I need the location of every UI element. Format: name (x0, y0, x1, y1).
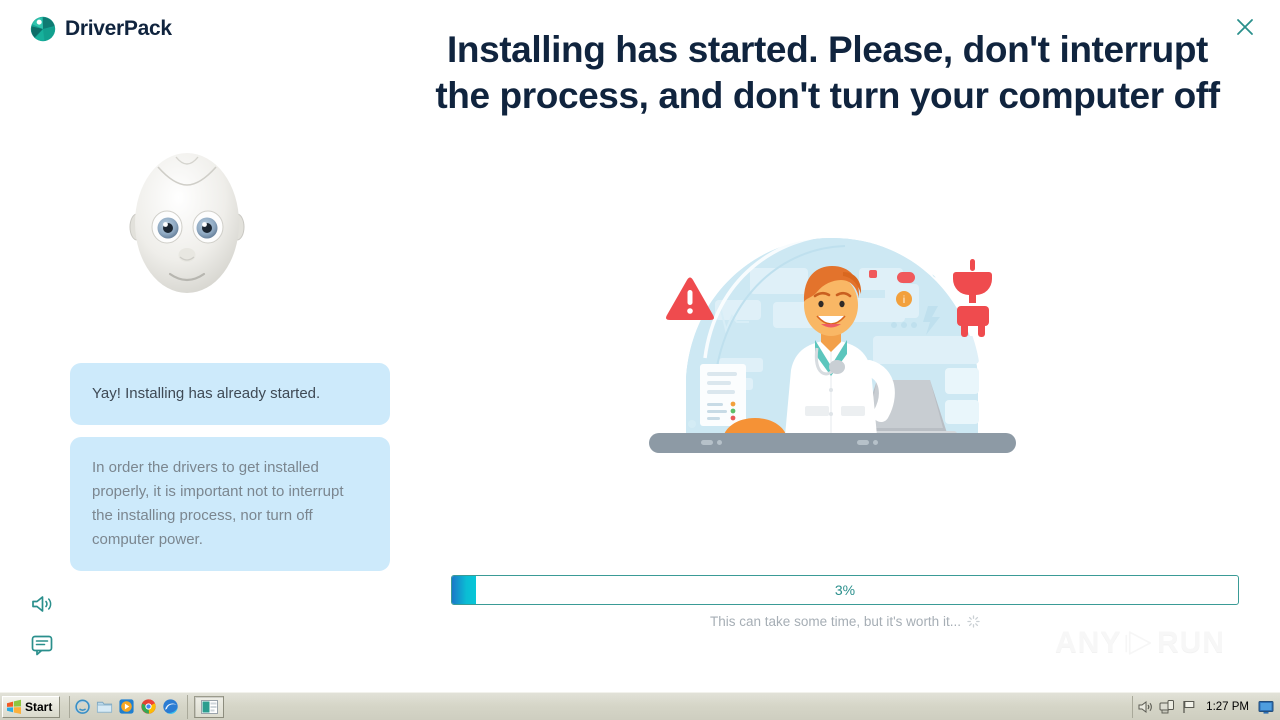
anyrun-play-icon (1124, 618, 1154, 668)
assistant-message-text: Yay! Installing has already started. (92, 385, 320, 402)
page-title: Installing has started. Please, don't in… (430, 27, 1225, 119)
start-button[interactable]: Start (2, 696, 60, 718)
taskbar-window-buttons (187, 695, 224, 719)
progress-percent-label: 3% (452, 576, 1238, 604)
assistant-message: In order the drivers to get installed pr… (70, 437, 390, 571)
tray-network-icon[interactable] (1159, 699, 1175, 715)
progress-bar-track: 3% (451, 575, 1239, 605)
watermark-right-text: RUN (1157, 628, 1225, 658)
chat-message-icon[interactable] (30, 633, 54, 657)
brand-name: DriverPack (65, 16, 172, 42)
left-icon-rail (30, 592, 54, 657)
tray-volume-icon[interactable] (1137, 699, 1153, 715)
folder-icon[interactable] (96, 698, 113, 715)
power-plug-icon (953, 259, 992, 337)
media-player-icon[interactable] (118, 698, 135, 715)
progress-hint-text: This can take some time, but it's worth … (710, 614, 961, 629)
warning-triangle-icon (666, 278, 714, 321)
chrome-icon[interactable] (140, 698, 157, 715)
tray-monitor-icon[interactable] (1258, 699, 1274, 715)
edge-icon[interactable] (162, 698, 179, 715)
close-button[interactable] (1232, 14, 1258, 40)
driverpack-window-icon (201, 700, 218, 714)
windows-taskbar: Start (0, 692, 1280, 720)
speaker-volume-icon[interactable] (30, 592, 54, 616)
taskbar-window-driverpack[interactable] (194, 696, 224, 718)
watermark-left-text: ANY (1055, 628, 1121, 658)
assistant-message-text: In order the drivers to get installed pr… (92, 459, 344, 548)
internet-explorer-icon[interactable] (74, 698, 91, 715)
brand-logo: DriverPack (30, 16, 172, 42)
quick-launch-bar (69, 696, 179, 718)
robot-head-avatar (128, 145, 246, 300)
svg-text:i: i (903, 295, 905, 306)
taskbar-clock[interactable]: 1:27 PM (1203, 701, 1252, 713)
windows-flag-icon (6, 699, 22, 715)
tray-flag-icon[interactable] (1181, 699, 1197, 715)
system-tray: 1:27 PM (1132, 696, 1278, 718)
loading-spinner-icon (967, 615, 980, 628)
close-icon (1233, 15, 1257, 39)
start-button-label: Start (25, 700, 52, 714)
driverpack-installer-window: DriverPack Installing has started. Pleas… (0, 0, 1280, 720)
technician-with-laptop-illustration: i (645, 228, 1020, 460)
driverpack-logo-icon (30, 16, 56, 42)
assistant-message: Yay! Installing has already started. (70, 363, 390, 425)
anyrun-watermark: ANY RUN (1055, 612, 1225, 674)
